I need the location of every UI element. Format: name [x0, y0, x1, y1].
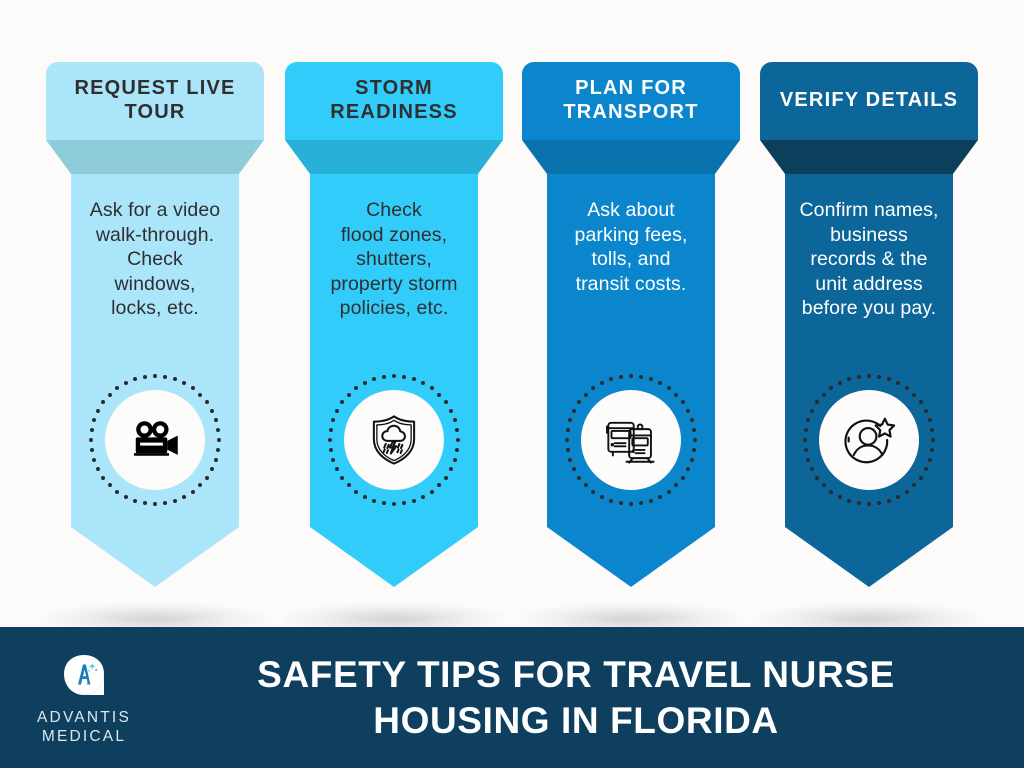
column-title: PLAN FOR TRANSPORT — [522, 77, 740, 124]
advantis-a-mark-icon — [62, 653, 106, 702]
column-body: Ask about parking fees, tolls, and trans… — [547, 174, 715, 587]
column-fold — [46, 140, 264, 174]
footer-title: SAFETY TIPS FOR TRAVEL NURSE HOUSING IN … — [168, 652, 1024, 744]
info-column-4: VERIFY DETAILSConfirm names, business re… — [760, 62, 978, 587]
column-body-panel: Confirm names, business records & the un… — [785, 174, 953, 527]
column-header-1: REQUEST LIVE TOUR — [46, 62, 264, 140]
info-column-3: PLAN FOR TRANSPORTAsk about parking fees… — [522, 62, 740, 587]
infographic-columns: REQUEST LIVE TOURAsk for a video walk-th… — [0, 0, 1024, 627]
column-body-panel: Ask for a video walk-through. Check wind… — [71, 174, 239, 527]
column-tail-point — [785, 527, 953, 587]
footer-banner: ADVANTIS MEDICAL SAFETY TIPS FOR TRAVEL … — [0, 627, 1024, 768]
column-description: Check flood zones, shutters, property st… — [314, 198, 474, 321]
column-fold-shape — [760, 140, 978, 174]
column-fold — [285, 140, 503, 174]
column-tail-point — [71, 527, 239, 587]
column-description: Ask for a video walk-through. Check wind… — [75, 198, 235, 321]
column-header-4: VERIFY DETAILS — [760, 62, 978, 140]
column-fold — [522, 140, 740, 174]
info-column-2: STORM READINESSCheck flood zones, shutte… — [285, 62, 503, 587]
info-column-1: REQUEST LIVE TOURAsk for a video walk-th… — [46, 62, 264, 587]
column-body-panel: Check flood zones, shutters, property st… — [310, 174, 478, 527]
brand-name-line-1: ADVANTIS — [37, 709, 131, 728]
column-fold-shape — [46, 140, 264, 174]
column-title: STORM READINESS — [285, 77, 503, 124]
column-body-panel: Ask about parking fees, tolls, and trans… — [547, 174, 715, 527]
column-description: Confirm names, business records & the un… — [789, 198, 949, 321]
column-body: Ask for a video walk-through. Check wind… — [71, 174, 239, 587]
column-fold-shape — [285, 140, 503, 174]
column-tail-point — [547, 527, 715, 587]
column-header-2: STORM READINESS — [285, 62, 503, 140]
column-tail-point — [310, 527, 478, 587]
column-body: Confirm names, business records & the un… — [785, 174, 953, 587]
column-body: Check flood zones, shutters, property st… — [310, 174, 478, 587]
column-title: REQUEST LIVE TOUR — [46, 77, 264, 124]
column-title: VERIFY DETAILS — [774, 89, 964, 113]
column-fold-shape — [522, 140, 740, 174]
column-fold — [760, 140, 978, 174]
brand-lockup: ADVANTIS MEDICAL — [0, 649, 168, 747]
column-header-3: PLAN FOR TRANSPORT — [522, 62, 740, 140]
column-description: Ask about parking fees, tolls, and trans… — [551, 198, 711, 296]
brand-name-line-2: MEDICAL — [42, 728, 126, 747]
